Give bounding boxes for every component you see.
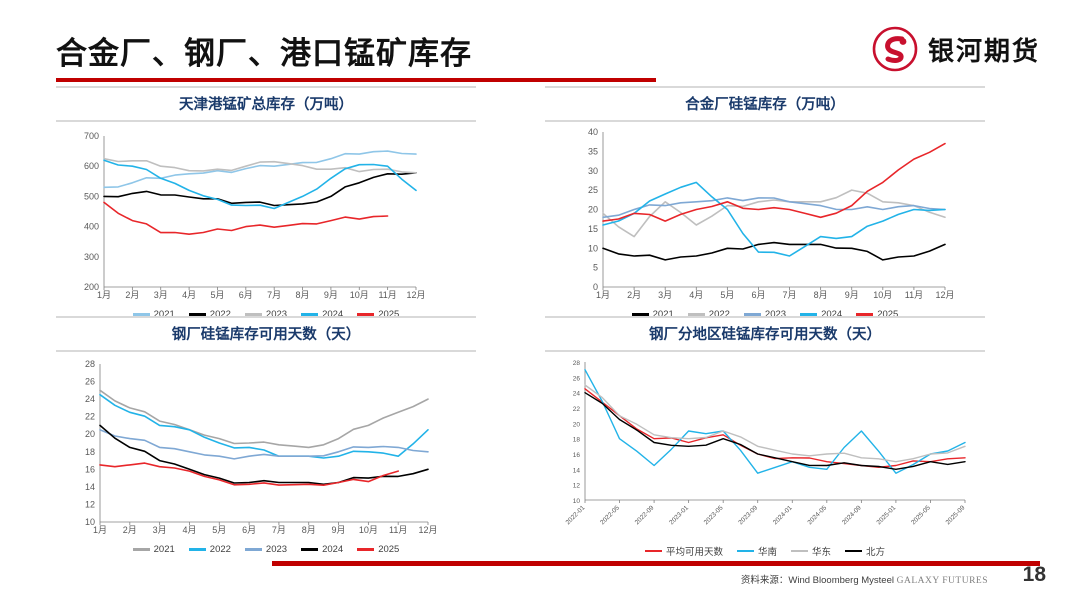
svg-text:12: 12 <box>573 483 581 490</box>
legend-swatch <box>737 550 754 553</box>
legend-label: 2025 <box>378 544 399 555</box>
svg-text:500: 500 <box>84 191 99 201</box>
source-brand: GALAXY FUTURES <box>897 576 988 586</box>
svg-text:2月: 2月 <box>125 290 139 300</box>
legend-item: 北方 <box>845 544 885 558</box>
galaxy-futures-logo-icon <box>872 26 918 72</box>
svg-text:7月: 7月 <box>783 290 797 300</box>
svg-text:12: 12 <box>85 499 95 509</box>
svg-text:20: 20 <box>588 205 598 215</box>
svg-text:18: 18 <box>85 447 95 457</box>
title-underline <box>56 78 656 82</box>
svg-text:6月: 6月 <box>751 290 765 300</box>
svg-text:2022-05: 2022-05 <box>599 504 621 526</box>
svg-text:1月: 1月 <box>596 290 610 300</box>
svg-text:8月: 8月 <box>302 525 316 535</box>
svg-text:10: 10 <box>588 243 598 253</box>
chart-title-steel-mill-days: 钢厂硅锰库存可用天数（天） <box>56 316 476 352</box>
svg-text:4月: 4月 <box>182 290 196 300</box>
svg-text:10月: 10月 <box>359 525 378 535</box>
svg-text:2025-09: 2025-09 <box>945 504 967 526</box>
chart-panel-alloy-plant: 合金厂硅锰库存（万吨） 05101520253035401月2月3月4月5月6月… <box>545 86 985 320</box>
svg-text:22: 22 <box>573 406 581 413</box>
svg-text:2022-09: 2022-09 <box>634 504 656 526</box>
legend-label: 2023 <box>266 544 287 555</box>
svg-text:25: 25 <box>588 185 598 195</box>
svg-text:2023-01: 2023-01 <box>668 504 690 526</box>
legend-swatch <box>189 548 206 551</box>
svg-text:18: 18 <box>573 437 581 444</box>
legend-swatch <box>845 550 862 553</box>
chart-panel-tianjin-port: 天津港锰矿总库存（万吨） 2003004005006007001月2月3月4月5… <box>56 86 476 320</box>
svg-text:2024-05: 2024-05 <box>806 504 828 526</box>
chart-title-alloy-plant: 合金厂硅锰库存（万吨） <box>545 86 985 122</box>
svg-text:10月: 10月 <box>350 290 369 300</box>
chart-plot-steel-mill-days: 101214161820222426281月2月3月4月5月6月7月8月9月10… <box>56 352 476 542</box>
svg-text:12月: 12月 <box>418 525 437 535</box>
svg-text:700: 700 <box>84 131 99 141</box>
svg-text:5月: 5月 <box>210 290 224 300</box>
svg-text:600: 600 <box>84 161 99 171</box>
svg-text:2024-09: 2024-09 <box>841 504 863 526</box>
chart-title-steel-mill-region: 钢厂分地区硅锰库存可用天数（天） <box>545 316 985 352</box>
svg-text:3月: 3月 <box>153 525 167 535</box>
chart-title-tianjin-port: 天津港锰矿总库存（万吨） <box>56 86 476 122</box>
svg-text:35: 35 <box>588 146 598 156</box>
svg-text:10月: 10月 <box>873 290 892 300</box>
legend-item: 2023 <box>245 544 287 555</box>
svg-text:2月: 2月 <box>123 525 137 535</box>
legend-label: 2022 <box>210 544 231 555</box>
svg-text:400: 400 <box>84 222 99 232</box>
legend-swatch <box>645 550 662 553</box>
svg-text:11月: 11月 <box>905 290 923 300</box>
svg-text:9月: 9月 <box>324 290 338 300</box>
svg-text:11月: 11月 <box>378 290 396 300</box>
legend-label: 华南 <box>758 544 777 558</box>
legend-item: 2025 <box>357 544 399 555</box>
chart-panel-steel-mill-region: 钢厂分地区硅锰库存可用天数（天） 10121416182022242628202… <box>545 316 985 558</box>
svg-text:30: 30 <box>588 166 598 176</box>
legend-swatch <box>791 550 808 553</box>
svg-text:6月: 6月 <box>242 525 256 535</box>
source-note: 资料来源：Wind Bloomberg Mysteel GALAXY FUTUR… <box>741 572 988 586</box>
svg-text:3月: 3月 <box>658 290 672 300</box>
svg-text:14: 14 <box>85 482 95 492</box>
page-number: 18 <box>1023 563 1046 587</box>
chart-plot-steel-mill-region: 101214161820222426282022-012022-052022-0… <box>545 352 985 542</box>
svg-text:28: 28 <box>85 359 95 369</box>
svg-text:9月: 9月 <box>845 290 859 300</box>
legend-item: 华东 <box>791 544 831 558</box>
brand: 银河期货 <box>872 26 1040 72</box>
legend-swatch <box>133 548 150 551</box>
legend-swatch <box>357 548 374 551</box>
svg-text:16: 16 <box>85 464 95 474</box>
svg-text:28: 28 <box>573 360 581 367</box>
svg-text:8月: 8月 <box>814 290 828 300</box>
legend-label: 2021 <box>154 544 175 555</box>
svg-text:5月: 5月 <box>212 525 226 535</box>
svg-text:10: 10 <box>573 498 581 505</box>
chart-panel-steel-mill-days: 钢厂硅锰库存可用天数（天） 101214161820222426281月2月3月… <box>56 316 476 555</box>
svg-text:16: 16 <box>573 452 581 459</box>
chart-plot-alloy-plant: 05101520253035401月2月3月4月5月6月7月8月9月10月11月… <box>545 122 985 307</box>
svg-text:11月: 11月 <box>389 525 407 535</box>
legend-item: 华南 <box>737 544 777 558</box>
svg-text:4月: 4月 <box>689 290 703 300</box>
svg-text:2025-01: 2025-01 <box>876 504 898 526</box>
svg-text:26: 26 <box>85 377 95 387</box>
legend-swatch <box>301 548 318 551</box>
svg-text:6月: 6月 <box>239 290 253 300</box>
svg-text:24: 24 <box>85 394 95 404</box>
svg-text:20: 20 <box>85 429 95 439</box>
svg-text:2025-05: 2025-05 <box>910 504 932 526</box>
svg-text:15: 15 <box>588 224 598 234</box>
legend-item: 2021 <box>133 544 175 555</box>
svg-text:7月: 7月 <box>267 290 281 300</box>
chart-legend-steel-mill-region: 平均可用天数华南华东北方 <box>545 544 985 558</box>
legend-item: 平均可用天数 <box>645 544 723 558</box>
source-label: 资料来源：Wind Bloomberg Mysteel <box>741 575 894 586</box>
svg-text:4月: 4月 <box>182 525 196 535</box>
svg-text:1月: 1月 <box>97 290 111 300</box>
svg-text:22: 22 <box>85 412 95 422</box>
svg-text:300: 300 <box>84 252 99 262</box>
legend-swatch <box>245 548 262 551</box>
svg-text:2023-09: 2023-09 <box>737 504 759 526</box>
svg-text:5月: 5月 <box>720 290 734 300</box>
svg-text:7月: 7月 <box>272 525 286 535</box>
legend-label: 华东 <box>812 544 831 558</box>
svg-text:2月: 2月 <box>627 290 641 300</box>
page-title: 合金厂、钢厂、港口锰矿库存 <box>56 28 472 73</box>
svg-text:24: 24 <box>573 391 581 398</box>
footer-bar <box>272 561 1040 566</box>
legend-label: 2024 <box>322 544 343 555</box>
svg-text:12月: 12月 <box>406 290 425 300</box>
brand-name: 银河期货 <box>928 31 1040 68</box>
svg-text:9月: 9月 <box>332 525 346 535</box>
svg-text:26: 26 <box>573 375 581 382</box>
svg-text:14: 14 <box>573 467 581 474</box>
legend-item: 2022 <box>189 544 231 555</box>
chart-legend-steel-mill-days: 20212022202320242025 <box>56 544 476 555</box>
svg-text:8月: 8月 <box>296 290 310 300</box>
svg-text:2023-05: 2023-05 <box>703 504 725 526</box>
legend-label: 平均可用天数 <box>666 544 723 558</box>
svg-text:40: 40 <box>588 127 598 137</box>
svg-text:2024-01: 2024-01 <box>772 504 794 526</box>
svg-text:5: 5 <box>593 263 598 273</box>
legend-label: 北方 <box>866 544 885 558</box>
legend-item: 2024 <box>301 544 343 555</box>
svg-text:20: 20 <box>573 421 581 428</box>
svg-text:1月: 1月 <box>93 525 107 535</box>
svg-text:3月: 3月 <box>154 290 168 300</box>
chart-plot-tianjin-port: 2003004005006007001月2月3月4月5月6月7月8月9月10月1… <box>56 122 476 307</box>
svg-text:2022-01: 2022-01 <box>565 504 587 526</box>
svg-text:12月: 12月 <box>935 290 954 300</box>
